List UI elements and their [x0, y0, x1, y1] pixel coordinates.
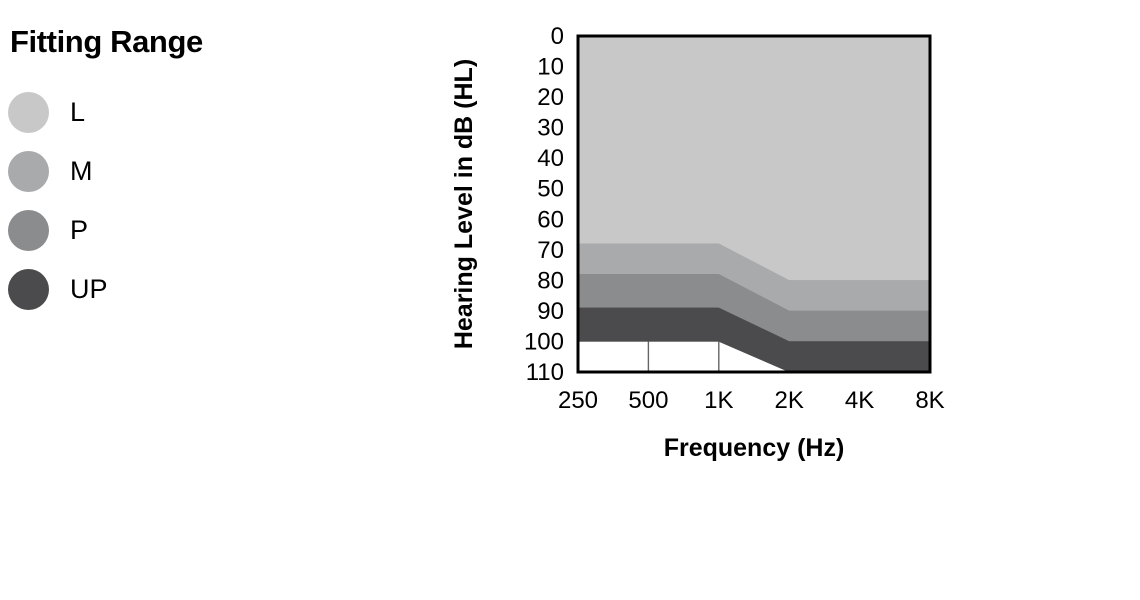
y-tick-label: 60 — [537, 206, 564, 233]
y-tick-label: 90 — [537, 298, 564, 325]
legend-item-label: UP — [70, 276, 108, 303]
legend-item-label: L — [70, 99, 85, 126]
y-tick-label-layer: 0102030405060708090100110 — [524, 23, 564, 386]
legend-swatch-m — [8, 151, 49, 192]
y-tick-label: 0 — [551, 23, 564, 50]
chart-svg: 0102030405060708090100110 2505001K2K4K8K… — [440, 8, 1000, 488]
y-tick-label: 80 — [537, 267, 564, 294]
legend-item[interactable]: M — [8, 142, 308, 201]
x-tick-label-layer: 2505001K2K4K8K — [558, 387, 945, 414]
y-tick-label: 70 — [537, 237, 564, 264]
y-tick-label: 30 — [537, 115, 564, 142]
x-axis-title: Frequency (Hz) — [664, 434, 845, 462]
legend-swatch-p — [8, 210, 49, 251]
legend-item[interactable]: P — [8, 201, 308, 260]
x-tick-label: 250 — [558, 387, 598, 414]
legend-swatch-up — [8, 269, 49, 310]
y-tick-label: 40 — [537, 145, 564, 172]
fitting-range-chart: 0102030405060708090100110 2505001K2K4K8K… — [440, 8, 1000, 488]
legend-title: Fitting Range — [10, 26, 308, 57]
legend-item-label: M — [70, 158, 93, 185]
y-tick-label: 50 — [537, 176, 564, 203]
fitting-range-legend: Fitting Range LMPUP — [8, 26, 308, 319]
x-tick-label: 2K — [775, 387, 804, 414]
y-tick-label: 20 — [537, 84, 564, 111]
x-tick-label: 4K — [845, 387, 874, 414]
y-tick-label: 100 — [524, 328, 564, 355]
band-layer — [578, 36, 930, 372]
legend-item[interactable]: L — [8, 83, 308, 142]
x-tick-label: 500 — [628, 387, 668, 414]
x-tick-label: 1K — [704, 387, 733, 414]
y-tick-label: 10 — [537, 54, 564, 81]
legend-item-list: LMPUP — [8, 83, 308, 319]
legend-item[interactable]: UP — [8, 260, 308, 319]
y-axis-title: Hearing Level in dB (HL) — [450, 59, 478, 349]
x-tick-label: 8K — [915, 387, 944, 414]
legend-swatch-l — [8, 92, 49, 133]
legend-item-label: P — [70, 217, 88, 244]
y-tick-label: 110 — [526, 359, 564, 386]
